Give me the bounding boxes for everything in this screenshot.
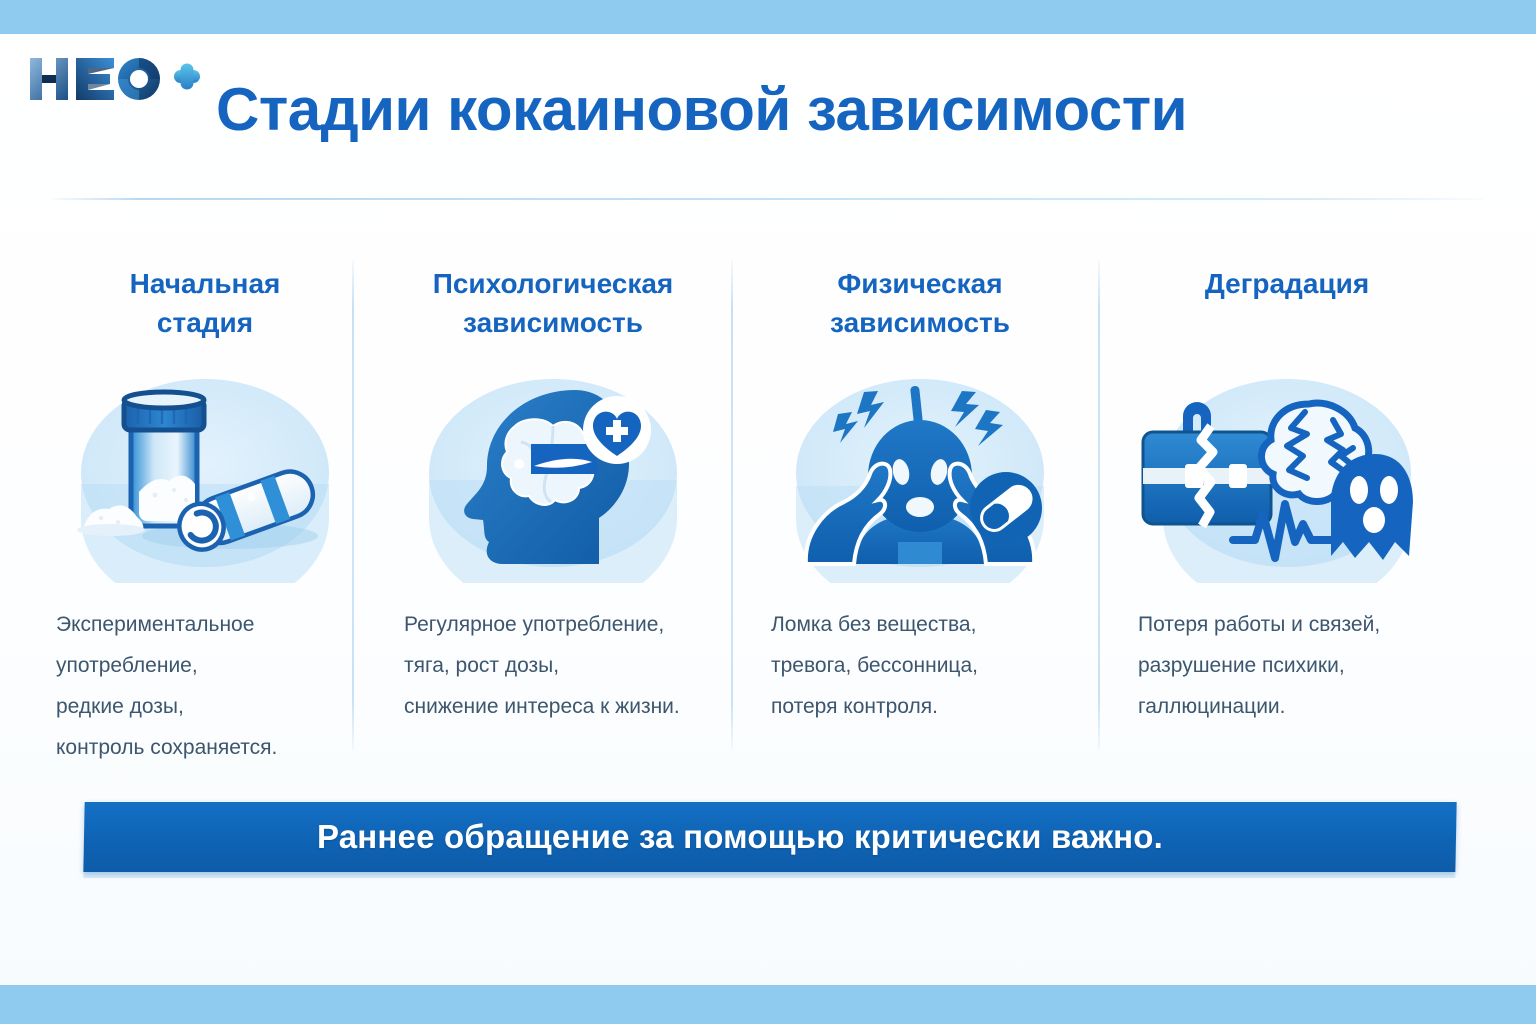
stage-heading-line: зависимость [463, 307, 643, 338]
column-divider [731, 260, 733, 750]
description-line: галлюцинации. [1138, 687, 1438, 728]
description-line: Потеря работы и связей, [1138, 605, 1438, 646]
description-line: снижение интереса к жизни. [404, 687, 704, 728]
pill-jar-powder-rolled-note-icon [46, 368, 364, 588]
page-title: Стадии кокаиновой зависимости [216, 78, 1506, 141]
stage-card-degradation: Деградация [1128, 250, 1446, 770]
description-line: разрушение психики, [1138, 646, 1438, 687]
description-line: употребление, [56, 646, 356, 687]
stage-description: Регулярное употребление, тяга, рост дозы… [404, 605, 704, 728]
stage-heading-line: стадия [157, 307, 253, 338]
column-divider [1098, 260, 1100, 750]
stage-heading-line: зависимость [830, 307, 1010, 338]
neo-plus-logo [22, 50, 202, 108]
title-divider [53, 198, 1483, 200]
description-line: тяга, рост дозы, [404, 646, 704, 687]
head-brain-heart-plus-icon [394, 368, 712, 588]
stage-card-physical: Физическая зависимость [761, 250, 1079, 770]
description-line: потеря контроля. [771, 687, 1071, 728]
stage-heading: Деградация [1128, 264, 1446, 303]
broken-briefcase-cracked-brain-ghost-icon [1128, 368, 1446, 588]
stage-description: Потеря работы и связей, разрушение психи… [1138, 605, 1438, 728]
description-line: контроль сохраняется. [56, 728, 356, 769]
stage-heading-line: Физическая [837, 268, 1002, 299]
stage-card-psychological: Психологическая зависимость [394, 250, 712, 770]
stage-description: Экспериментальное употребление, редкие д… [56, 605, 356, 769]
description-line: Экспериментальное [56, 605, 356, 646]
description-line: Ломка без вещества, [771, 605, 1071, 646]
stage-heading-line: Психологическая [433, 268, 674, 299]
stages-row: Начальная стадия [0, 250, 1536, 770]
stage-heading: Начальная стадия [46, 264, 364, 342]
stage-heading: Физическая зависимость [761, 264, 1079, 342]
infographic-poster: Стадии кокаиновой зависимости Начальная … [0, 0, 1536, 1024]
stage-card-initial: Начальная стадия [46, 250, 364, 770]
description-line: Регулярное употребление, [404, 605, 704, 646]
bottom-accent-bar [0, 985, 1536, 1024]
stage-description: Ломка без вещества, тревога, бессонница,… [771, 605, 1071, 728]
stage-heading-line: Начальная [130, 268, 281, 299]
distressed-person-headache-pill-icon [761, 368, 1079, 588]
stage-heading-line: Деградация [1205, 268, 1369, 299]
description-line: тревога, бессонница, [771, 646, 1071, 687]
description-line: редкие дозы, [56, 687, 356, 728]
top-accent-bar [0, 0, 1536, 34]
stage-heading: Психологическая зависимость [394, 264, 712, 342]
call-to-action-text: Раннее обращение за помощью критически в… [84, 802, 1456, 872]
